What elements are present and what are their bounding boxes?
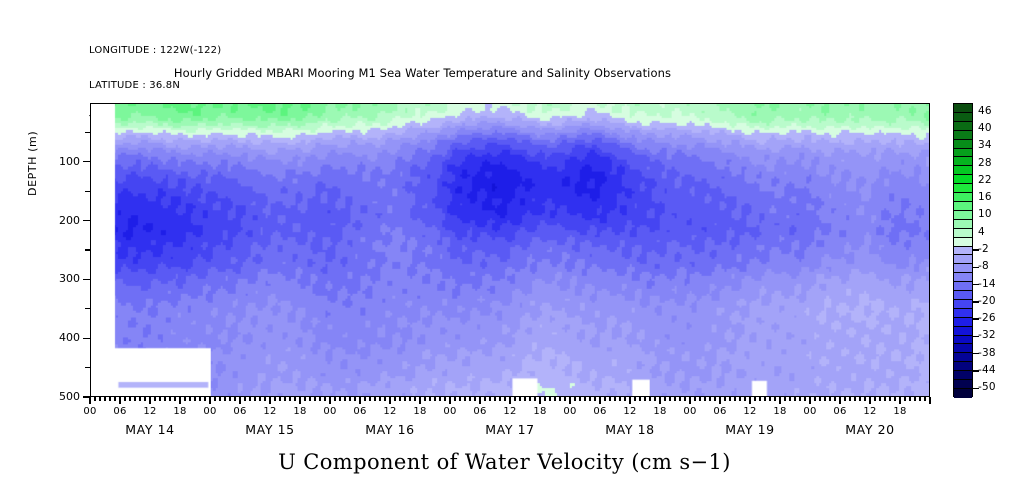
colorbar-label-34: 34 [978,139,1008,151]
x-tick-h71 [444,397,445,401]
colorbar-label-neg14: -14 [978,278,1008,290]
x-tick-h98 [579,397,580,401]
x-tick-h108 [629,397,630,404]
x-tick-h131 [744,397,745,401]
x-tick-h21 [194,397,195,401]
colorbar-label-46: 46 [978,105,1008,117]
x-tick-h42 [299,397,300,404]
x-hour-label-27: 18 [888,406,912,417]
colorbar-segment-22 [954,300,972,309]
x-tick-h148 [829,397,830,401]
x-tick-h19 [184,397,185,401]
x-tick-h41 [294,397,295,401]
x-tick-h114 [659,397,660,404]
x-tick-h99 [584,397,585,401]
x-tick-h157 [874,397,875,401]
colorbar-label-neg8: -8 [978,260,1008,272]
x-hour-label-16: 00 [558,406,582,417]
x-tick-h27 [224,397,225,401]
x-tick-h5 [114,397,115,401]
x-tick-h120 [689,397,690,404]
x-tick-h60 [389,397,390,404]
x-tick-h86 [519,397,520,401]
y-tick-100 [83,161,90,162]
x-tick-h78 [479,397,480,404]
x-tick-h166 [919,397,920,401]
x-hour-label-22: 12 [738,406,762,417]
x-day-label-4: MAY 18 [575,422,685,437]
x-tick-h32 [249,397,250,401]
x-tick-h40 [289,397,290,401]
x-tick-h122 [699,397,700,401]
colorbar-segment-26 [954,336,972,345]
x-tick-h18 [179,397,180,404]
y-axis-label-300: 300 [38,272,80,285]
colorbar-tick-12 [973,318,979,319]
colorbar-segment-4 [954,140,972,149]
colorbar-segment-0 [954,104,972,113]
colorbar-label-neg38: -38 [978,347,1008,359]
x-tick-h43 [304,397,305,401]
colorbar-segment-10 [954,193,972,202]
x-tick-h14 [159,397,160,401]
x-day-label-0: MAY 14 [95,422,205,437]
x-tick-h62 [399,397,400,401]
colorbar [953,103,973,397]
colorbar-segment-17 [954,255,972,264]
x-hour-label-10: 12 [378,406,402,417]
x-tick-h111 [644,397,645,401]
x-tick-h24 [209,397,210,404]
x-day-label-3: MAY 17 [455,422,565,437]
x-tick-h155 [864,397,865,401]
x-tick-h138 [779,397,780,404]
x-tick-h46 [319,397,320,401]
x-tick-h70 [439,397,440,401]
x-tick-h118 [679,397,680,401]
colorbar-segment-8 [954,175,972,184]
x-tick-h76 [469,397,470,401]
x-tick-h112 [649,397,650,401]
x-tick-h2 [99,397,100,401]
y-tick-150 [85,191,90,192]
x-tick-h154 [859,397,860,401]
colorbar-label-neg32: -32 [978,329,1008,341]
colorbar-segment-28 [954,353,972,362]
x-tick-h53 [354,397,355,401]
colorbar-label-10: 10 [978,208,1008,220]
x-tick-h149 [834,397,835,401]
x-hour-label-20: 00 [678,406,702,417]
x-tick-h38 [279,397,280,401]
x-tick-h8 [129,397,130,401]
x-tick-h4 [109,397,110,401]
colorbar-tick-8 [973,249,979,250]
colorbar-segment-32 [954,389,972,398]
y-tick-250 [85,249,90,250]
x-tick-h121 [694,397,695,401]
colorbar-segment-30 [954,371,972,380]
colorbar-label-neg50: -50 [978,381,1008,393]
colorbar-segment-2 [954,122,972,131]
colorbar-segment-13 [954,220,972,229]
x-tick-h90 [539,397,540,404]
chart-title-text: Hourly Gridded MBARI Mooring M1 Sea Wate… [174,66,671,80]
y-tick-300 [83,279,90,280]
x-tick-h31 [244,397,245,401]
x-tick-h0 [89,397,90,404]
colorbar-label-neg2: -2 [978,243,1008,255]
colorbar-segment-23 [954,309,972,318]
x-tick-h30 [239,397,240,404]
x-tick-h77 [474,397,475,401]
x-tick-h37 [274,397,275,401]
x-hour-label-8: 00 [318,406,342,417]
x-tick-h47 [324,397,325,401]
colorbar-tick-15 [973,370,979,371]
x-tick-h22 [199,397,200,401]
x-tick-h144 [809,397,810,404]
x-tick-h15 [164,397,165,401]
x-tick-h104 [609,397,610,401]
x-tick-h96 [569,397,570,404]
y-axis-label-500: 500 [38,390,80,403]
x-tick-h159 [884,397,885,401]
x-tick-h151 [844,397,845,401]
x-tick-h35 [264,397,265,401]
x-hour-label-14: 12 [498,406,522,417]
x-tick-h109 [634,397,635,401]
x-tick-h45 [314,397,315,401]
colorbar-segment-9 [954,184,972,193]
x-tick-h82 [499,397,500,401]
x-hour-label-9: 06 [348,406,372,417]
x-tick-h132 [749,397,750,404]
x-tick-h135 [764,397,765,401]
colorbar-label-28: 28 [978,157,1008,169]
x-tick-h140 [789,397,790,401]
x-tick-h85 [514,397,515,401]
x-tick-h48 [329,397,330,404]
colorbar-tick-9 [973,267,979,268]
x-tick-h160 [889,397,890,401]
x-tick-h87 [524,397,525,401]
x-tick-h163 [904,397,905,401]
x-hour-label-18: 12 [618,406,642,417]
x-tick-h152 [849,397,850,401]
x-hour-label-26: 12 [858,406,882,417]
x-tick-h106 [619,397,620,401]
x-hour-label-2: 12 [138,406,162,417]
x-hour-label-4: 00 [198,406,222,417]
x-tick-h56 [369,397,370,401]
x-tick-h139 [784,397,785,401]
y-axis-title: DEPTH (m) [26,131,39,196]
x-tick-h67 [424,397,425,401]
x-tick-h44 [309,397,310,401]
colorbar-label-40: 40 [978,122,1008,134]
x-tick-h65 [414,397,415,401]
x-tick-h93 [554,397,555,401]
x-tick-h55 [364,397,365,401]
colorbar-label-neg44: -44 [978,364,1008,376]
colorbar-segment-21 [954,291,972,300]
x-hour-label-24: 00 [798,406,822,417]
colorbar-segment-19 [954,273,972,282]
x-tick-h130 [739,397,740,401]
longitude-text: LONGITUDE : 122W(-122) [89,45,221,57]
y-axis-label-200: 200 [38,214,80,227]
x-tick-h80 [489,397,490,401]
contour-canvas-holder [91,104,929,396]
x-hour-label-0: 00 [78,406,102,417]
x-tick-h58 [379,397,380,401]
x-day-label-5: MAY 19 [695,422,805,437]
x-tick-h3 [104,397,105,401]
x-hour-label-17: 06 [588,406,612,417]
colorbar-segment-18 [954,264,972,273]
x-tick-h153 [854,397,855,401]
x-tick-h101 [594,397,595,401]
x-tick-h102 [599,397,600,404]
x-tick-h34 [259,397,260,401]
x-tick-h10 [139,397,140,401]
x-tick-h88 [529,397,530,401]
x-hour-label-21: 06 [708,406,732,417]
x-tick-h13 [154,397,155,401]
colorbar-segment-16 [954,247,972,256]
x-tick-h128 [729,397,730,401]
colorbar-label-neg20: -20 [978,295,1008,307]
x-hour-label-1: 06 [108,406,132,417]
x-tick-h116 [669,397,670,401]
x-tick-h73 [454,397,455,401]
y-axis-label-400: 400 [38,331,80,344]
x-tick-h61 [394,397,395,401]
x-day-label-6: MAY 20 [815,422,925,437]
x-tick-h113 [654,397,655,401]
x-tick-h156 [869,397,870,404]
x-tick-h9 [134,397,135,401]
latitude-text: LATITUDE : 36.8N [89,80,221,92]
colorbar-segment-20 [954,282,972,291]
x-tick-h143 [804,397,805,401]
x-tick-h124 [709,397,710,401]
x-tick-h136 [769,397,770,401]
x-tick-h25 [214,397,215,401]
x-tick-h94 [559,397,560,401]
x-tick-h97 [574,397,575,401]
colorbar-tick-16 [973,388,979,389]
colorbar-tick-14 [973,353,979,354]
x-tick-h161 [894,397,895,401]
x-tick-h69 [434,397,435,401]
x-tick-h79 [484,397,485,401]
figure-root: LONGITUDE : 122W(-122) LATITUDE : 36.8N … [0,0,1009,504]
x-tick-h100 [589,397,590,401]
x-hour-label-3: 18 [168,406,192,417]
x-hour-label-19: 18 [648,406,672,417]
x-tick-h164 [909,397,910,401]
x-hour-label-6: 12 [258,406,282,417]
colorbar-segment-7 [954,166,972,175]
x-tick-h57 [374,397,375,401]
x-tick-h92 [549,397,550,401]
x-tick-h68 [429,397,430,401]
colorbar-label-16: 16 [978,191,1008,203]
x-tick-h165 [914,397,915,401]
colorbar-segment-5 [954,149,972,158]
colorbar-segment-15 [954,238,972,247]
x-hour-label-5: 06 [228,406,252,417]
x-tick-h75 [464,397,465,401]
colorbar-segment-27 [954,344,972,353]
x-tick-h20 [189,397,190,401]
x-tick-h119 [684,397,685,401]
y-tick-50 [85,132,90,133]
x-tick-h147 [824,397,825,401]
x-tick-h127 [724,397,725,401]
x-hour-label-25: 06 [828,406,852,417]
x-tick-h133 [754,397,755,401]
x-tick-h28 [229,397,230,401]
x-hour-label-7: 18 [288,406,312,417]
x-tick-h26 [219,397,220,401]
x-tick-h51 [344,397,345,401]
x-tick-h81 [494,397,495,401]
x-tick-h63 [404,397,405,401]
x-tick-h162 [899,397,900,404]
x-hour-label-13: 06 [468,406,492,417]
x-tick-h84 [509,397,510,404]
x-day-label-1: MAY 15 [215,422,325,437]
y-tick-200 [83,220,90,221]
x-tick-h117 [674,397,675,401]
x-tick-h83 [504,397,505,401]
x-tick-h158 [879,397,880,401]
x-hour-label-12: 00 [438,406,462,417]
x-tick-h52 [349,397,350,401]
colorbar-segment-6 [954,157,972,166]
x-tick-h95 [564,397,565,401]
x-tick-h146 [819,397,820,401]
y-axis-label-100: 100 [38,155,80,168]
x-tick-h103 [604,397,605,401]
x-tick-h115 [664,397,665,401]
colorbar-segment-12 [954,211,972,220]
colorbar-segment-3 [954,131,972,140]
x-hour-label-23: 18 [768,406,792,417]
x-tick-h29 [234,397,235,401]
x-tick-h66 [419,397,420,404]
colorbar-tick-11 [973,301,979,302]
colorbar-tick-10 [973,284,979,285]
colorbar-segment-31 [954,380,972,389]
x-tick-h23 [204,397,205,401]
colorbar-label-neg26: -26 [978,312,1008,324]
colorbar-segment-24 [954,318,972,327]
figure-caption: U Component of Water Velocity (cm s−1) [0,450,1009,474]
x-tick-h74 [459,397,460,401]
x-tick-h59 [384,397,385,401]
x-tick-h168 [929,397,930,404]
y-tick-450 [85,367,90,368]
x-tick-h36 [269,397,270,404]
x-tick-h91 [544,397,545,401]
x-tick-h16 [169,397,170,401]
x-tick-h50 [339,397,340,401]
x-tick-h167 [924,397,925,401]
x-tick-h89 [534,397,535,401]
x-tick-h1 [94,397,95,401]
colorbar-label-22: 22 [978,174,1008,186]
x-tick-h39 [284,397,285,401]
x-tick-h6 [119,397,120,404]
x-tick-h150 [839,397,840,404]
colorbar-label-4: 4 [978,226,1008,238]
x-tick-h123 [704,397,705,401]
x-tick-h110 [639,397,640,401]
chart-title: Hourly Gridded MBARI Mooring M1 Sea Wate… [0,66,1009,80]
x-tick-h126 [719,397,720,404]
x-tick-h145 [814,397,815,401]
x-tick-h54 [359,397,360,404]
x-hour-label-15: 18 [528,406,552,417]
x-tick-h105 [614,397,615,401]
colorbar-segment-29 [954,362,972,371]
contour-heatmap [91,104,929,396]
x-tick-h49 [334,397,335,401]
x-hour-label-11: 18 [408,406,432,417]
x-tick-h11 [144,397,145,401]
x-tick-h107 [624,397,625,401]
colorbar-segment-25 [954,327,972,336]
y-tick-350 [85,308,90,309]
x-tick-h33 [254,397,255,401]
x-tick-h129 [734,397,735,401]
x-tick-h134 [759,397,760,401]
x-tick-h12 [149,397,150,404]
x-tick-h72 [449,397,450,404]
y-tick-400 [83,338,90,339]
x-tick-h7 [124,397,125,401]
contour-plot-area [90,103,930,397]
colorbar-segment-14 [954,229,972,238]
colorbar-tick-13 [973,336,979,337]
x-tick-h137 [774,397,775,401]
x-tick-h17 [174,397,175,401]
x-tick-h141 [794,397,795,401]
colorbar-segment-11 [954,202,972,211]
x-day-label-2: MAY 16 [335,422,445,437]
colorbar-segment-1 [954,113,972,122]
x-tick-h142 [799,397,800,401]
x-tick-h125 [714,397,715,401]
x-tick-h64 [409,397,410,401]
